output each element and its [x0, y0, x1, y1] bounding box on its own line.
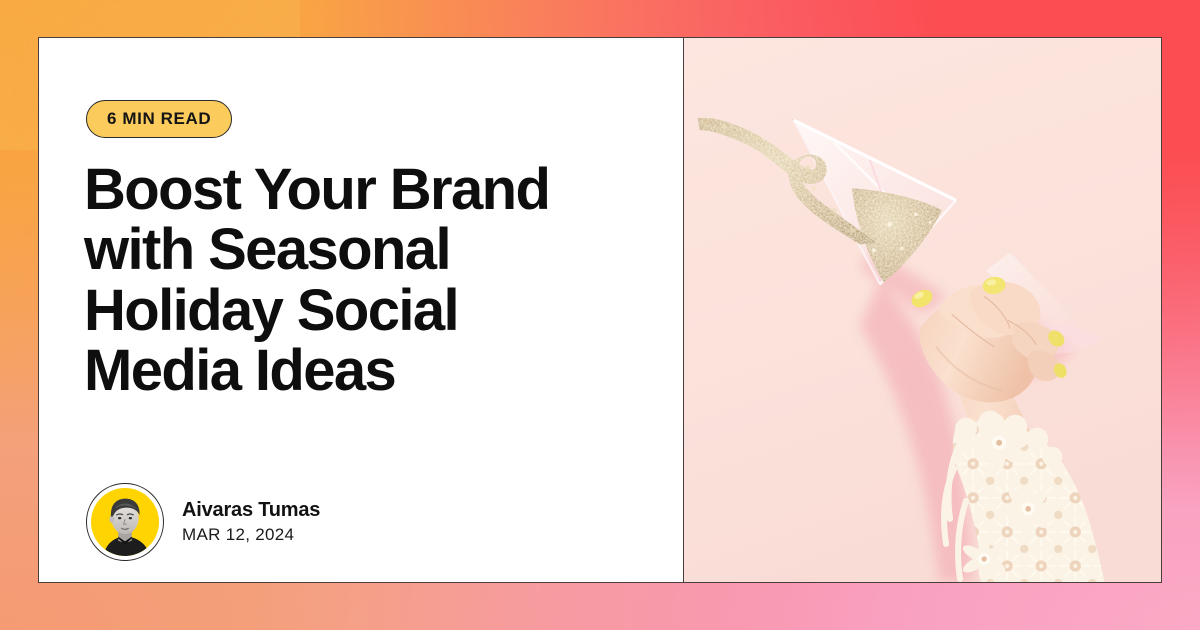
user-portrait-icon	[91, 488, 159, 556]
social-card-background: 6 MIN READ Boost Your Brand with Seasona…	[0, 0, 1200, 630]
post-title: Boost Your Brand with Seasonal Holiday S…	[84, 160, 644, 401]
author-name: Aivaras Tumas	[182, 499, 320, 522]
avatar-disc	[91, 488, 159, 556]
martini-glitter-photo	[684, 38, 1161, 582]
post-text-pane: 6 MIN READ Boost Your Brand with Seasona…	[39, 38, 684, 582]
blog-post-card[interactable]: 6 MIN READ Boost Your Brand with Seasona…	[38, 37, 1162, 583]
author-avatar[interactable]	[86, 483, 164, 561]
read-time-label: 6 MIN READ	[107, 109, 211, 129]
author-block[interactable]: Aivaras Tumas MAR 12, 2024	[86, 483, 320, 561]
author-meta: Aivaras Tumas MAR 12, 2024	[182, 499, 320, 545]
post-date: MAR 12, 2024	[182, 525, 320, 545]
post-hero-image	[684, 38, 1161, 582]
read-time-badge: 6 MIN READ	[86, 100, 232, 138]
